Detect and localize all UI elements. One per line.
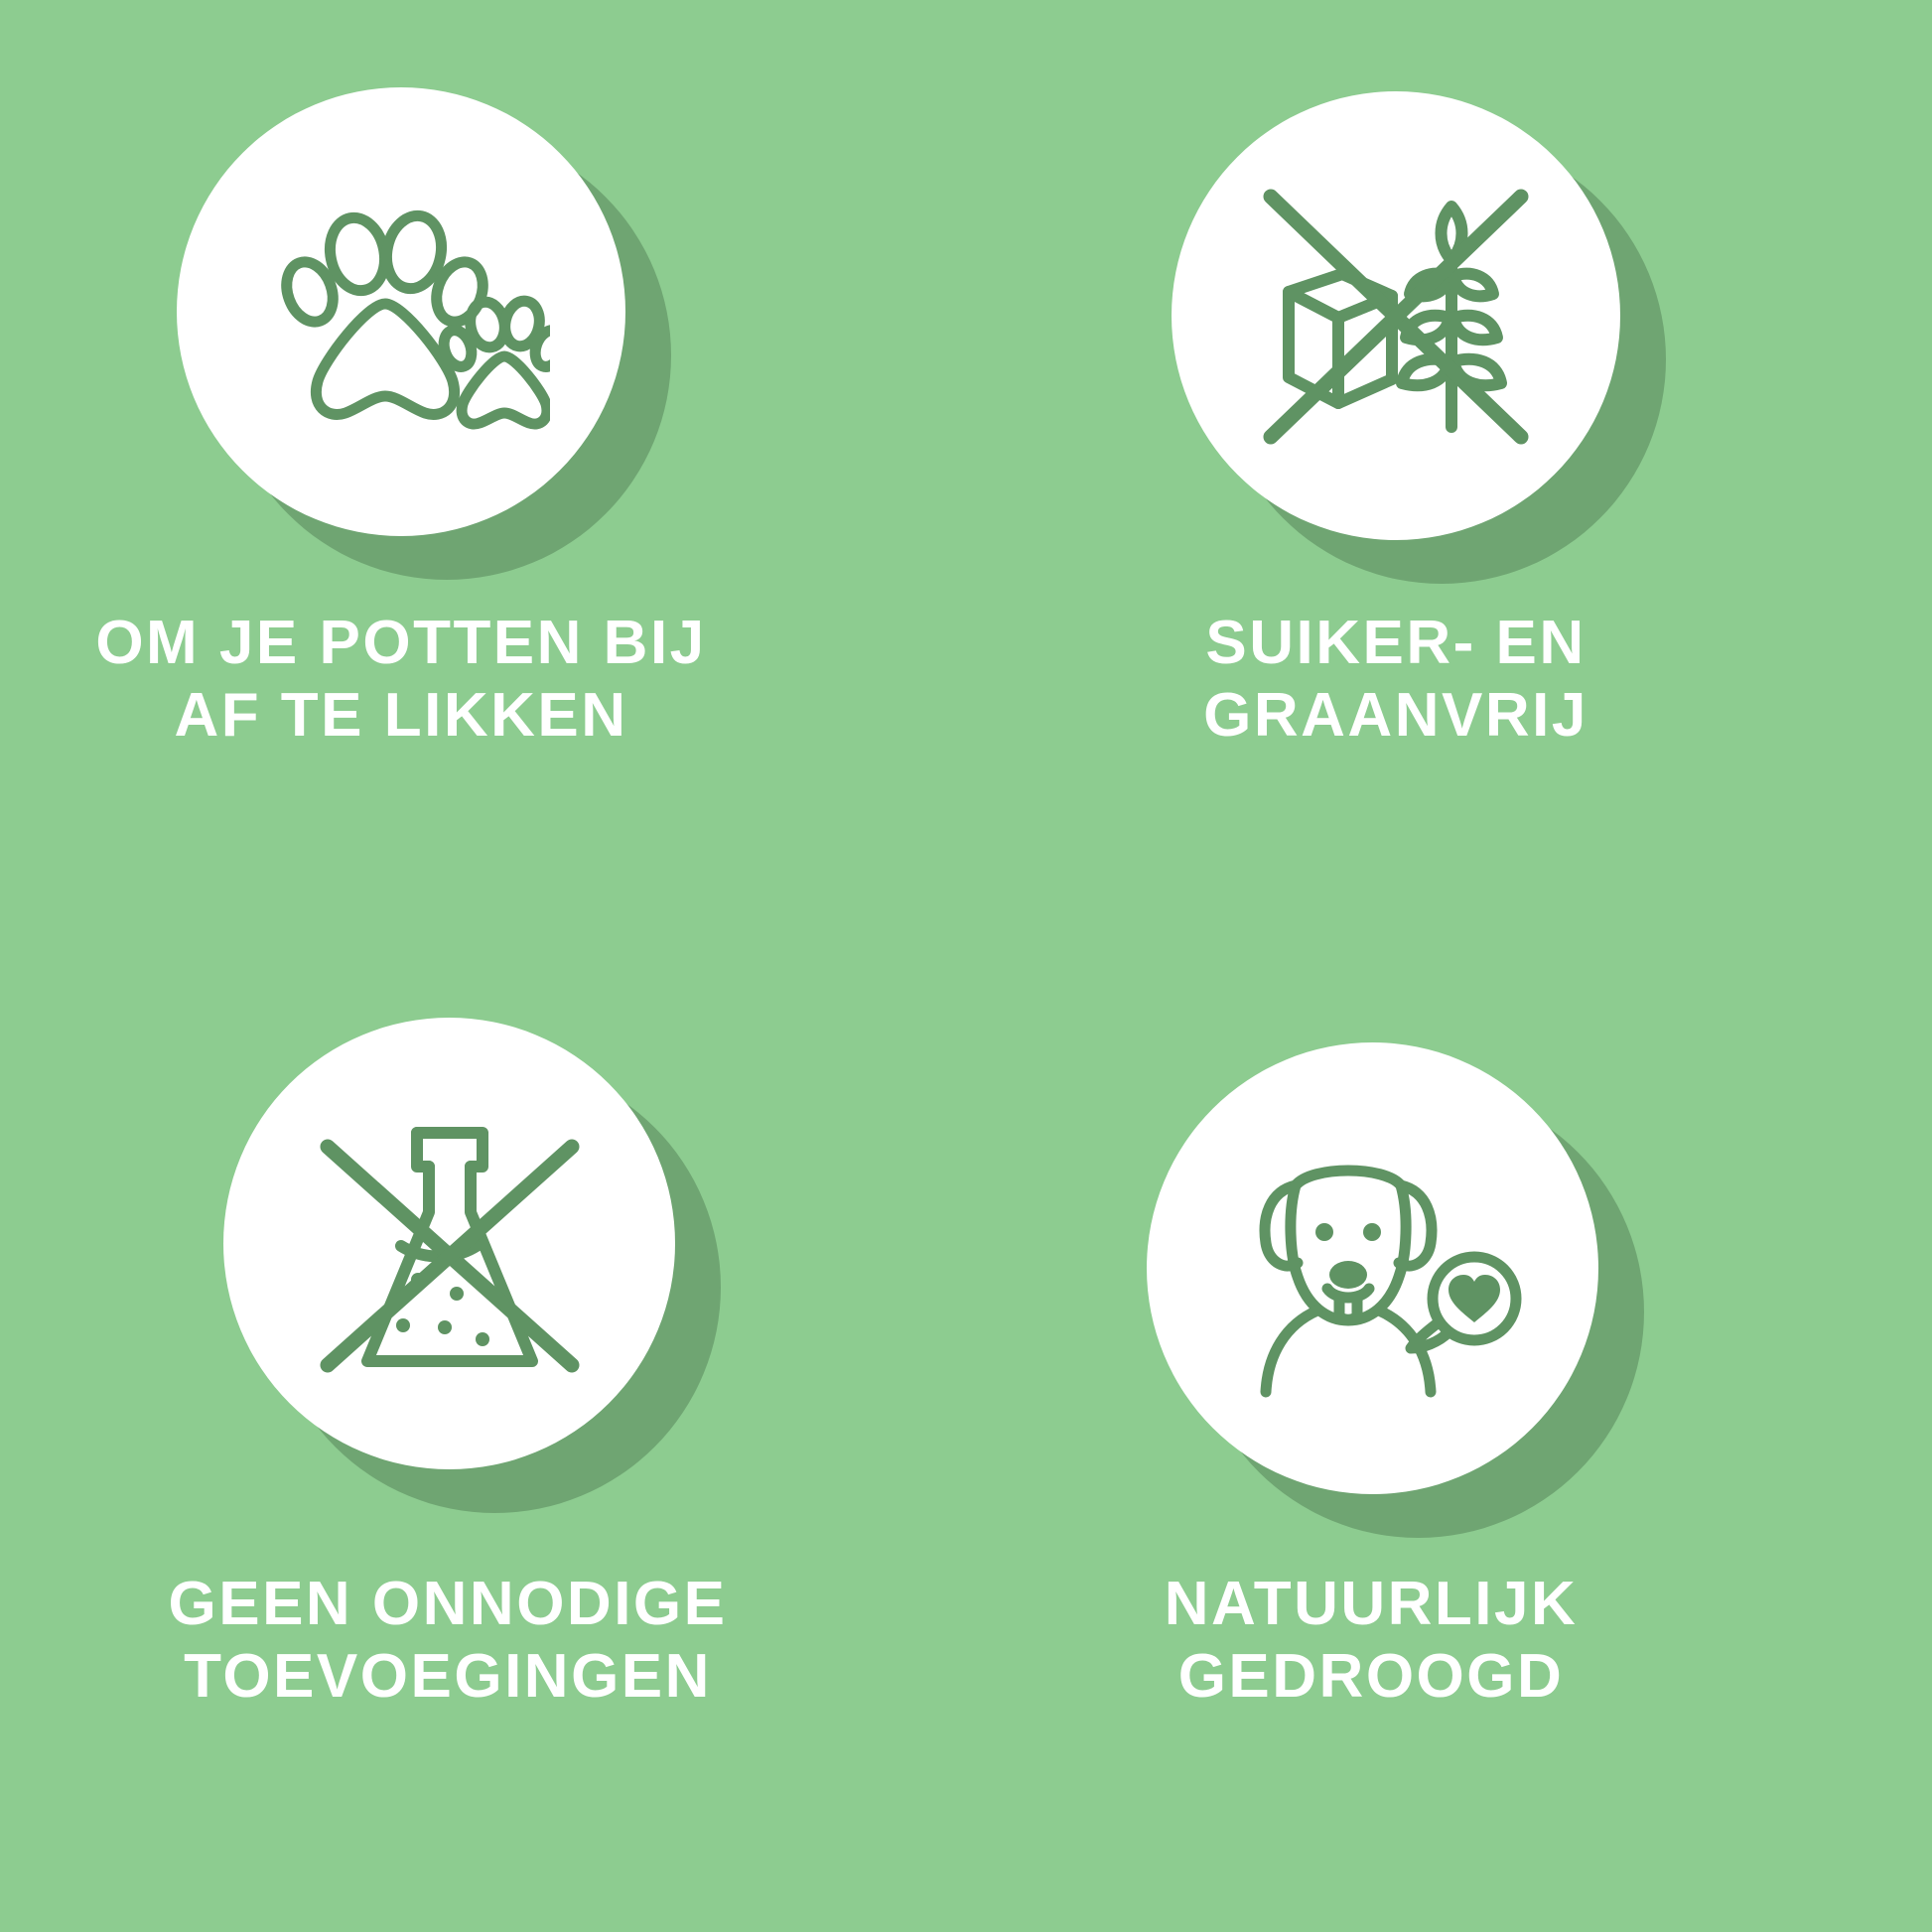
no-sugar-no-grain-icon (1247, 167, 1545, 465)
happy-dog-heart-icon (1224, 1140, 1522, 1398)
paw-prints-icon (252, 193, 550, 431)
no-chemicals-flask-icon (306, 1095, 594, 1393)
badge-circle-paw-prints (177, 87, 625, 536)
badge-circle-naturally-dried (1147, 1042, 1598, 1494)
feature-caption: NATUURLIJK GEDROOGD (1028, 1569, 1715, 1713)
feature-caption: GEEN ONNODIGE TOEVOEGINGEN (94, 1569, 801, 1713)
infographic-board: OM JE POTTEN BIJ AF TE LIKKEN (0, 0, 1932, 1932)
badge-circle-no-additives (223, 1018, 675, 1469)
feature-caption: OM JE POTTEN BIJ AF TE LIKKEN (68, 608, 735, 752)
badge-circle-sugar-grain (1172, 91, 1620, 540)
feature-caption: SUIKER- EN GRAANVRIJ (1013, 608, 1779, 752)
